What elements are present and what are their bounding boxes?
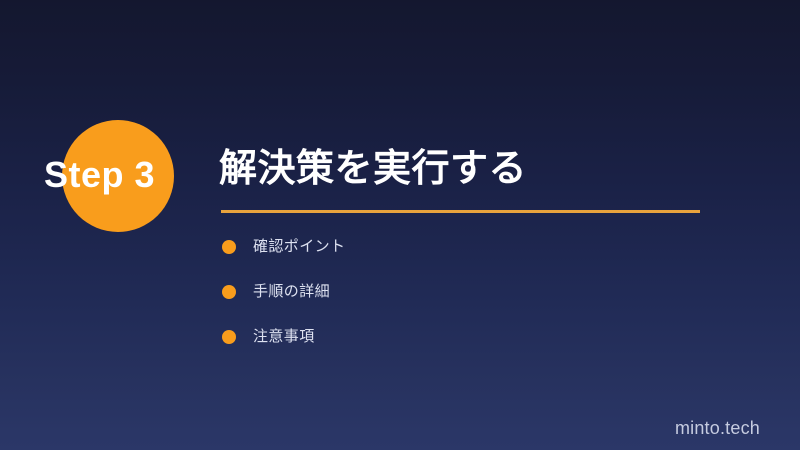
list-item: 手順の詳細 [221, 278, 701, 323]
title-divider [221, 210, 700, 213]
bullet-list: 確認ポイント 手順の詳細 注意事項 [221, 233, 701, 368]
list-item: 注意事項 [221, 323, 701, 368]
slide-title: 解決策を実行する [219, 146, 527, 192]
bullet-dot-icon [222, 240, 236, 254]
footer-brand-watermark: minto.tech [675, 418, 760, 439]
list-item: 確認ポイント [221, 233, 701, 278]
list-item-label: 注意事項 [253, 323, 315, 351]
step-badge-label: Step 3 [44, 153, 214, 197]
bullet-dot-icon [222, 285, 236, 299]
slide-canvas: Step 3 解決策を実行する 確認ポイント 手順の詳細 注意事項 minto.… [0, 0, 800, 450]
bullet-dot-icon [222, 330, 236, 344]
list-item-label: 確認ポイント [253, 233, 345, 261]
list-item-label: 手順の詳細 [253, 278, 330, 306]
